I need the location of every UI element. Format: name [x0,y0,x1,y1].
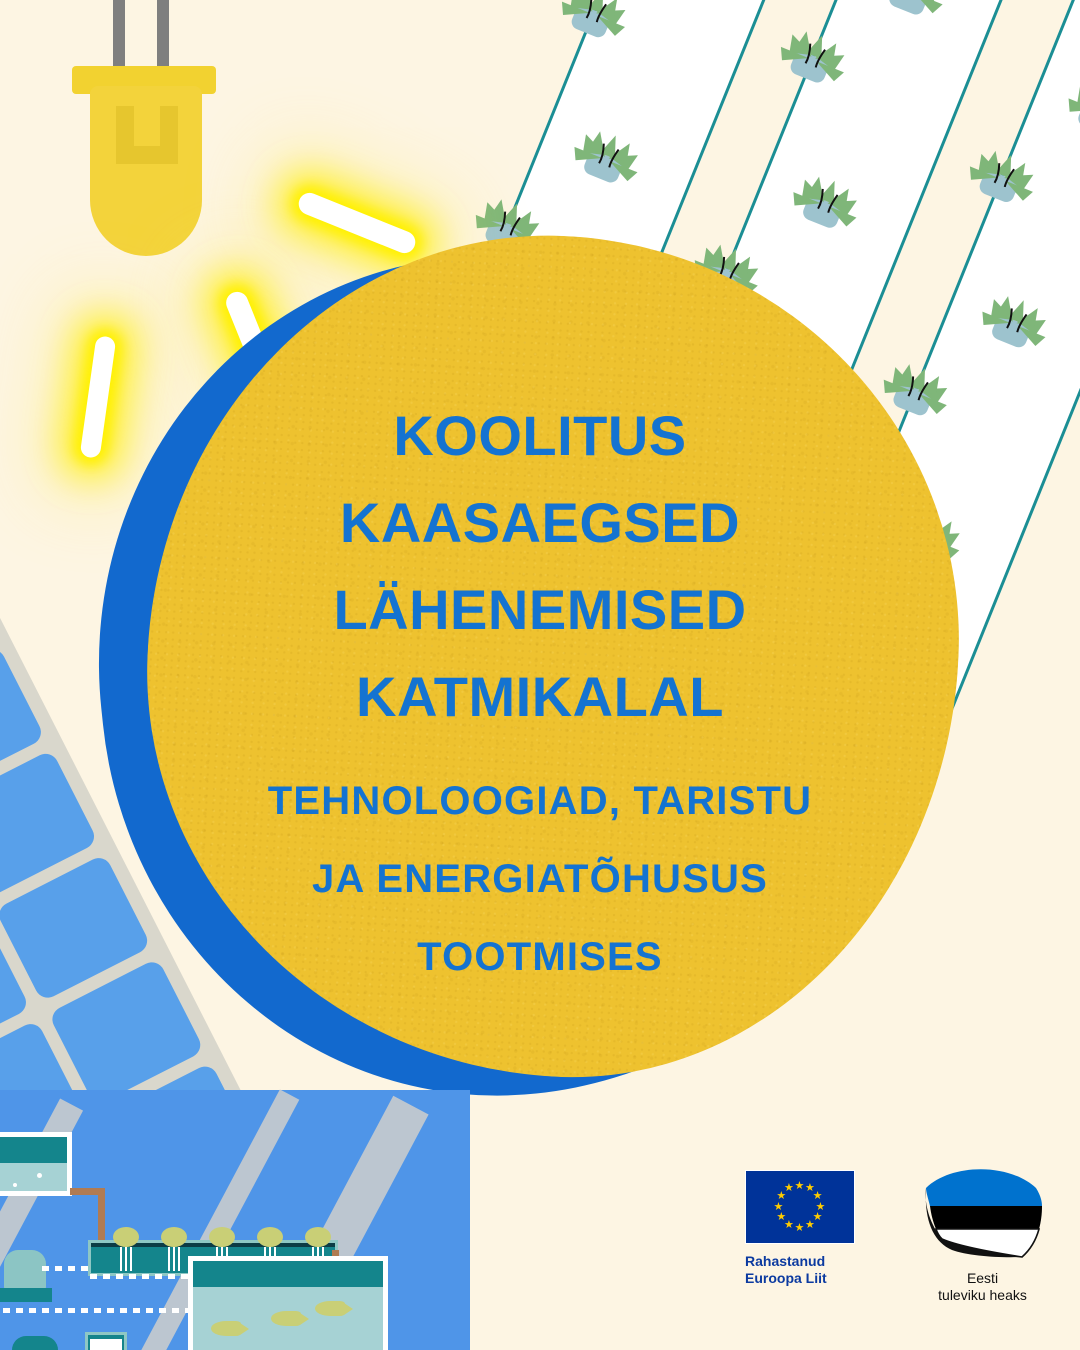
eu-star-icon: ★ [805,1220,815,1231]
fish-icon [211,1321,241,1336]
page-title: KAASAEGSED [140,479,940,566]
lettuce-plant [113,1227,139,1247]
eu-star-icon: ★ [774,1202,784,1213]
light-ray-icon [295,190,418,257]
lettuce-plant [209,1227,235,1247]
page-title: LÄHENEMISED [140,566,940,653]
bubble [37,1173,42,1178]
tank-lid [193,1261,383,1287]
flow-line [0,1308,194,1313]
pipe [98,1188,105,1244]
eu-caption-line2: Euroopa Liit [745,1270,855,1287]
eu-star-icon: ★ [784,1183,794,1194]
estonian-flag-swoosh-icon [920,1166,1045,1261]
pump-base [0,1288,52,1302]
led-bulb-icon [85,0,245,280]
poster-copy: KOOLITUS KAASAEGSED LÄHENEMISED KATMIKAL… [140,392,940,996]
eu-star-icon: ★ [795,1181,805,1192]
tank-lid [0,1137,67,1163]
plant-roots [168,1247,180,1271]
eu-caption: Rahastanud Euroopa Liit [745,1253,855,1287]
filter-unit [85,1332,127,1350]
eu-caption-line1: Rahastanud [745,1253,855,1270]
lettuce-plant [305,1227,331,1247]
page-subtitle: TOOTMISES [140,918,940,996]
page-title: KOOLITUS [140,392,940,479]
estonia-caption: Eesti tuleviku heaks [905,1270,1060,1304]
bubble [13,1183,17,1187]
fish-icon [315,1301,345,1316]
fish-icon [271,1311,301,1326]
estonia-caption-line1: Eesti [905,1270,1060,1287]
eu-flag-icon: ★★★★★★★★★★★★ [745,1170,855,1244]
fish-tank [188,1256,388,1350]
poster-canvas: KOOLITUS KAASAEGSED LÄHENEMISED KATMIKAL… [0,0,1080,1350]
page-subtitle: TEHNOLOOGIAD, TARISTU [140,762,940,840]
spacer [140,740,940,762]
flow-line [42,1266,92,1271]
page-subtitle: JA ENERGIATÕHUSUS [140,840,940,918]
water-pump [12,1336,58,1350]
filter-media [90,1339,122,1350]
lettuce-plant [161,1227,187,1247]
lettuce-plant [257,1227,283,1247]
eu-star-icon: ★ [776,1212,786,1223]
water-tank [0,1132,72,1196]
funding-logos: ★★★★★★★★★★★★ Rahastanud Euroopa Liit Ees… [740,1170,1060,1320]
plant-roots [120,1247,132,1271]
eu-star-icon: ★ [795,1223,805,1234]
light-ray-icon [80,335,117,459]
led-chip [116,106,178,164]
eu-funding-logo: ★★★★★★★★★★★★ Rahastanud Euroopa Liit [745,1170,855,1287]
estonia-caption-line2: tuleviku heaks [905,1287,1060,1304]
page-title: KATMIKALAL [140,653,940,740]
water-pump [4,1250,46,1290]
aquaponics-diagram [0,1110,450,1350]
led-dome [90,86,202,256]
estonia-logo: Eesti tuleviku heaks [905,1166,1060,1304]
